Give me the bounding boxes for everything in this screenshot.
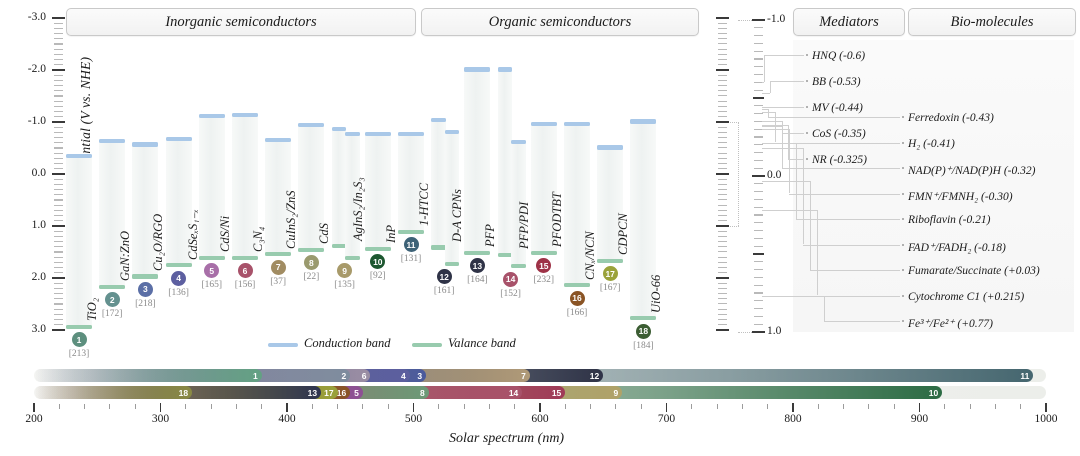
y-tick-minor [54,38,63,39]
y-tick-major [52,173,65,175]
y-tick-minor [54,132,63,133]
y2-tick [718,236,727,237]
y3-tick-minor [754,269,763,270]
y2-tick [718,38,727,39]
valence-band-18 [630,316,656,320]
y2-tick [718,257,727,258]
y-tick-minor [54,303,63,304]
bar-body-12 [431,119,446,247]
y-tick-minor [54,194,63,195]
bar-label-17: CDPCN [616,214,631,256]
conduction-band-11 [398,132,424,136]
bio-conn-h2-2 [782,168,900,169]
y3-tick-minor [754,191,763,192]
expand-guide-bottom [738,332,752,333]
badge-15: 15 [536,258,551,273]
y3-tick-minor [754,43,763,44]
y2-tick [718,163,727,164]
y3-tick-minor [754,214,763,215]
y2-tick [718,23,727,24]
solar-tick-label: 1000 [1026,413,1066,425]
solar-tick-major [666,403,667,412]
mediator-label-0: HNQ (-0.6) [812,50,865,62]
solar-tick-major [919,403,920,412]
mediator-label-2: MV (-0.44) [812,102,863,114]
mediator-conn-h2-0 [764,55,804,56]
mediator-label-3: CoS (-0.35) [812,128,866,140]
solar-tick-label: 200 [14,413,54,425]
y2-tick [718,199,727,200]
y-tick-minor [54,153,63,154]
bio-conn-h2-7 [817,296,900,297]
y3-tick-minor [754,58,763,59]
bar-label-18: UiO-66 [649,274,664,312]
y2-tick [718,168,727,169]
solar-tick-major [286,403,287,412]
y-tick-minor [54,293,63,294]
conduction-band-6 [232,113,258,117]
y2-tick [718,142,727,143]
reference-17: [167] [597,283,623,293]
y-tick-major [52,225,65,227]
conduction-band-5 [199,114,225,118]
solar-tick-minor [211,404,212,409]
valence-band-16 [564,283,590,287]
y2-tick [718,210,727,211]
solar-tick-major [1045,403,1046,412]
reference-8: [22] [298,272,324,282]
y-tick-minor [54,241,63,242]
bio-conn-h1-2 [762,126,782,127]
y-tick-minor [54,272,63,273]
bio-conn-h1-8 [762,296,824,297]
biomolecule-label-4: Riboflavin (-0.21) [908,214,990,226]
valence-band-14 [498,253,513,257]
y2-tick [718,111,727,112]
y-tick-minor [54,246,63,247]
y2-tick [718,106,727,107]
bio-conn-h2-0 [768,117,900,118]
y2-tick [718,90,727,91]
valence-band-8 [298,248,324,252]
y-tick-minor [54,324,63,325]
y2-tick [718,231,727,232]
solar-tick-major [792,403,793,412]
y3-tick-minor [754,136,763,137]
valence-band-1 [66,325,92,329]
reference-7: [37] [265,277,291,287]
y-tick-label: 2.0 [12,271,46,283]
bio-conn-h1-3 [762,129,789,130]
y2-tick [718,158,727,159]
y3-tick-minor [754,308,763,309]
reference-10: [92] [365,271,391,281]
y-tick-minor [54,199,63,200]
reference-15: [232] [531,275,557,285]
y2-tick [718,293,727,294]
y2-tick [716,173,729,175]
bio-conn-h1-7 [762,210,817,211]
solar-tick-minor [59,404,60,409]
y2-tick [716,329,729,331]
biomolecule-label-0: Ferredoxin (-0.43) [908,112,994,124]
solar-tick-minor [84,404,85,409]
solar-tick-minor [135,404,136,409]
expand-guide-top [738,20,752,21]
y2-tick [718,184,727,185]
solar-tick-major [413,403,414,412]
y2-tick [718,272,727,273]
y-tick-minor [54,220,63,221]
y-tick-minor [54,215,63,216]
y2-tick [716,225,729,227]
bracket-vertical [738,122,739,226]
bar-label-9: AgInS₂/In₂S₃ [351,177,366,241]
y3-tick-minor [754,246,763,247]
y-tick-minor [54,210,63,211]
conduction-band-18 [630,119,656,123]
y-tick-minor [54,257,63,258]
y-tick-minor [54,54,63,55]
conduction-band-7 [265,138,291,142]
solar-tick-label: 900 [900,413,940,425]
bracket-bottom [730,226,739,227]
y2-tick [718,246,727,247]
y3-tick-minor [754,261,763,262]
y-tick-label: -1.0 [12,115,46,127]
y-tick-minor [54,59,63,60]
badge-13: 13 [470,258,485,273]
y3-tick-minor [754,90,763,91]
solar-spectrum-title: Solar spectrum (nm) [449,431,564,447]
solar-tick-major [539,403,540,412]
y-tick-minor [54,101,63,102]
bio-conn-v-5 [803,148,804,245]
valence-band-6 [232,256,258,260]
y-tick-minor [54,163,63,164]
bio-conn-h1-0 [762,109,768,110]
y3-tick-minor [754,238,763,239]
conduction-band-14-b [511,140,526,144]
solar-tick-minor [818,404,819,409]
reference-12: [161] [431,286,457,296]
reference-11: [131] [398,254,424,264]
y2-tick [718,288,727,289]
y3-tick-minor [754,300,763,301]
y3-tick-minor [754,66,763,67]
y-tick-minor [54,251,63,252]
y-tick-minor [54,314,63,315]
y3-tick-half [753,97,764,99]
bar-label-13: PFP [483,224,498,247]
bio-conn-v-6 [810,181,811,270]
reference-13: [164] [464,275,490,285]
y2-tick [718,132,727,133]
reference-6: [156] [232,280,258,290]
solar-tick-major [160,403,161,412]
y-tick-minor [54,95,63,96]
reference-18: [184] [630,341,656,351]
y-tick-minor [54,189,63,190]
bar-label-7: CuInS₂/ZnS [284,190,299,249]
bar-label-16: CNₓ/NCN [583,231,598,280]
badge-4: 4 [171,271,186,286]
conduction-band-3 [132,142,158,146]
solar-tick-label: 800 [773,413,813,425]
y2-tick [718,147,727,148]
y-tick-minor [54,179,63,180]
legend-swatch-valence [412,343,442,347]
valence-band-5 [199,256,225,260]
solar-tick-minor [388,404,389,409]
bar-label-15: PFODTBT [550,192,565,247]
y-tick-label: -2.0 [12,63,46,75]
y-tick-label: 0.0 [12,167,46,179]
reference-3: [218] [132,299,158,309]
y3-tick-half [753,253,764,255]
section-header-mediators: Mediators [793,8,905,36]
y3-tick-minor [754,199,763,200]
solar-tick-minor [312,404,313,409]
y-tick-label: 1.0 [12,219,46,231]
y2-tick [718,241,727,242]
reference-16: [166] [564,308,590,318]
y-tick-major [52,277,65,279]
y3-tick-minor [754,316,763,317]
mediator-conn-h2-3 [782,133,804,134]
spectrum-band-1: 1 [34,369,262,382]
badge-11: 11 [404,237,419,252]
bio-conn-h2-6 [810,270,900,271]
solar-tick-minor [438,404,439,409]
bio-conn-h2-8 [824,321,900,322]
solar-tick-minor [717,404,718,409]
conduction-band-12 [431,118,446,122]
mediator-conn-v-0 [764,55,765,82]
legend-label-conduction: Conduction band [304,336,390,351]
legend-label-valence: Valance band [448,336,516,351]
y-tick-minor [54,85,63,86]
y2-tick [718,319,727,320]
y3-tick-minor [754,292,763,293]
valence-band-9 [332,244,347,248]
valence-band-10 [365,247,391,251]
y2-tick [718,64,727,65]
badge-1: 1 [72,332,87,347]
y2-tick [718,194,727,195]
solar-tick-minor [236,404,237,409]
y2-tick [718,75,727,76]
biomolecule-label-1: H₂ (-0.41) [908,138,955,150]
y-tick-minor [54,288,63,289]
y2-tick [718,298,727,299]
conduction-band-13 [464,67,490,71]
solar-tick-minor [615,404,616,409]
y2-tick [718,179,727,180]
badge-3: 3 [138,282,153,297]
y-tick-minor [54,64,63,65]
solar-tick-minor [362,404,363,409]
y-tick-major [52,121,65,123]
valence-band-4 [166,263,192,267]
y-tick-major [52,329,65,331]
solar-tick-minor [767,404,768,409]
valence-band-17 [597,259,623,263]
valence-band-2 [99,285,125,289]
y2-tick [718,49,727,50]
y2-tick [718,85,727,86]
conduction-band-10 [365,132,391,136]
section-header-biomolecules: Bio-molecules [908,8,1076,36]
biomolecule-label-5: FAD⁺/FADH₂ (-0.18) [908,240,1006,254]
y-tick-minor [54,319,63,320]
bar-body-14 [498,69,513,255]
valence-band-11 [398,230,424,234]
valence-band-15 [531,251,557,255]
y-tick-minor [54,236,63,237]
biomolecule-label-7: Cytochrome C1 (+0.215) [908,291,1024,303]
bar-label-1: TiO₂ [85,298,100,321]
valence-band-12-b [445,262,460,266]
y3-tick-minor [754,222,763,223]
bio-conn-h1-6 [762,181,810,182]
y-tick-minor [54,75,63,76]
y-tick-major [52,69,65,71]
conduction-band-2 [99,139,125,143]
y-tick-label: 3.0 [12,323,46,335]
legend-swatch-conduction [268,343,298,347]
y2-tick [718,283,727,284]
y-tick-minor [54,106,63,107]
y-tick-minor [54,283,63,284]
mediator-conn-h1-1 [762,93,770,94]
y-tick-minor [54,80,63,81]
bio-conn-v-8 [824,296,825,321]
valence-band-3 [132,274,158,278]
y-tick-minor [54,231,63,232]
bar-label-8: CdS [317,224,332,245]
y2-tick [718,59,727,60]
y2-tick [718,153,727,154]
valence-band-7 [265,252,291,256]
y2-tick [718,189,727,190]
bio-conn-h1-1 [762,112,775,113]
y-tick-minor [54,309,63,310]
bar-label-10: InP [384,225,399,243]
y-tick-minor [54,262,63,263]
spectrum-band-18: 18 [34,386,192,399]
conduction-band-9 [332,127,347,131]
badge-17: 17 [603,266,618,281]
bio-conn-v-3 [789,129,790,193]
mediator-conn-h1-3 [762,121,782,122]
mediator-label-1: BB (-0.53) [812,76,861,88]
solar-tick-minor [337,404,338,409]
conduction-band-15 [531,122,557,126]
badge-2: 2 [105,292,120,307]
mediator-conn-h2-1 [770,81,804,82]
badge-18: 18 [636,324,651,339]
y3-tick-minor [754,285,763,286]
reference-14: [152] [498,289,524,299]
badge-10: 10 [370,254,385,269]
reference-5: [165] [199,280,225,290]
solar-tick-minor [261,404,262,409]
solar-tick-minor [464,404,465,409]
y3-tick-minor [754,324,763,325]
y2-tick [716,277,729,279]
mediator-conn-h2-2 [776,107,804,108]
bar-label-14: PFP/PDI [517,202,532,249]
conduction-band-14 [498,67,513,71]
bar-label-6: C₃N₄ [251,227,266,252]
y3-tick-label: -1.0 [767,13,797,25]
conduction-band-16 [564,122,590,126]
y-tick-minor [54,147,63,148]
y-tick-minor [54,43,63,44]
solar-tick-label: 700 [647,413,687,425]
reference-2: [172] [99,309,125,319]
y-tick-minor [54,127,63,128]
y3-tick-minor [754,230,763,231]
y-tick-major [52,17,65,19]
solar-tick-label: 600 [520,413,560,425]
mediator-label-4: NR (-0.325) [812,154,867,166]
reference-9: [135] [332,280,358,290]
conduction-band-9-b [345,132,360,136]
badge-14: 14 [503,272,518,287]
y-tick-minor [54,184,63,185]
y3-tick-minor [754,51,763,52]
y3-tick-minor [754,168,763,169]
y2-tick [716,17,729,19]
y3-tick-minor [754,105,763,106]
y-tick-minor [54,28,63,29]
valence-band-13 [464,251,490,255]
y2-tick [718,215,727,216]
y2-tick [718,95,727,96]
y-tick-minor [54,142,63,143]
y3-tick-minor [754,277,763,278]
y2-tick [718,324,727,325]
solar-tick-minor [894,404,895,409]
y-tick-minor [54,49,63,50]
solar-tick-label: 500 [394,413,434,425]
y2-tick [718,251,727,252]
y2-tick [718,80,727,81]
y2-tick [718,33,727,34]
bar-body-9 [332,128,347,247]
y3-tick-major [752,19,765,21]
y-tick-minor [54,267,63,268]
solar-tick-minor [995,404,996,409]
badge-7: 7 [271,260,286,275]
y3-tick-minor [754,144,763,145]
y2-tick [718,309,727,310]
y2-tick [718,220,727,221]
y2-tick [718,127,727,128]
solar-tick-label: 400 [267,413,307,425]
badge-16: 16 [570,291,585,306]
y2-tick [718,137,727,138]
y3-tick-minor [754,27,763,28]
solar-tick-minor [514,404,515,409]
bio-conn-v-1 [775,112,776,142]
biomolecule-label-6: Fumarate/Succinate (+0.03) [908,265,1040,277]
y2-tick [718,43,727,44]
solar-tick-minor [742,404,743,409]
y3-tick-minor [754,207,763,208]
